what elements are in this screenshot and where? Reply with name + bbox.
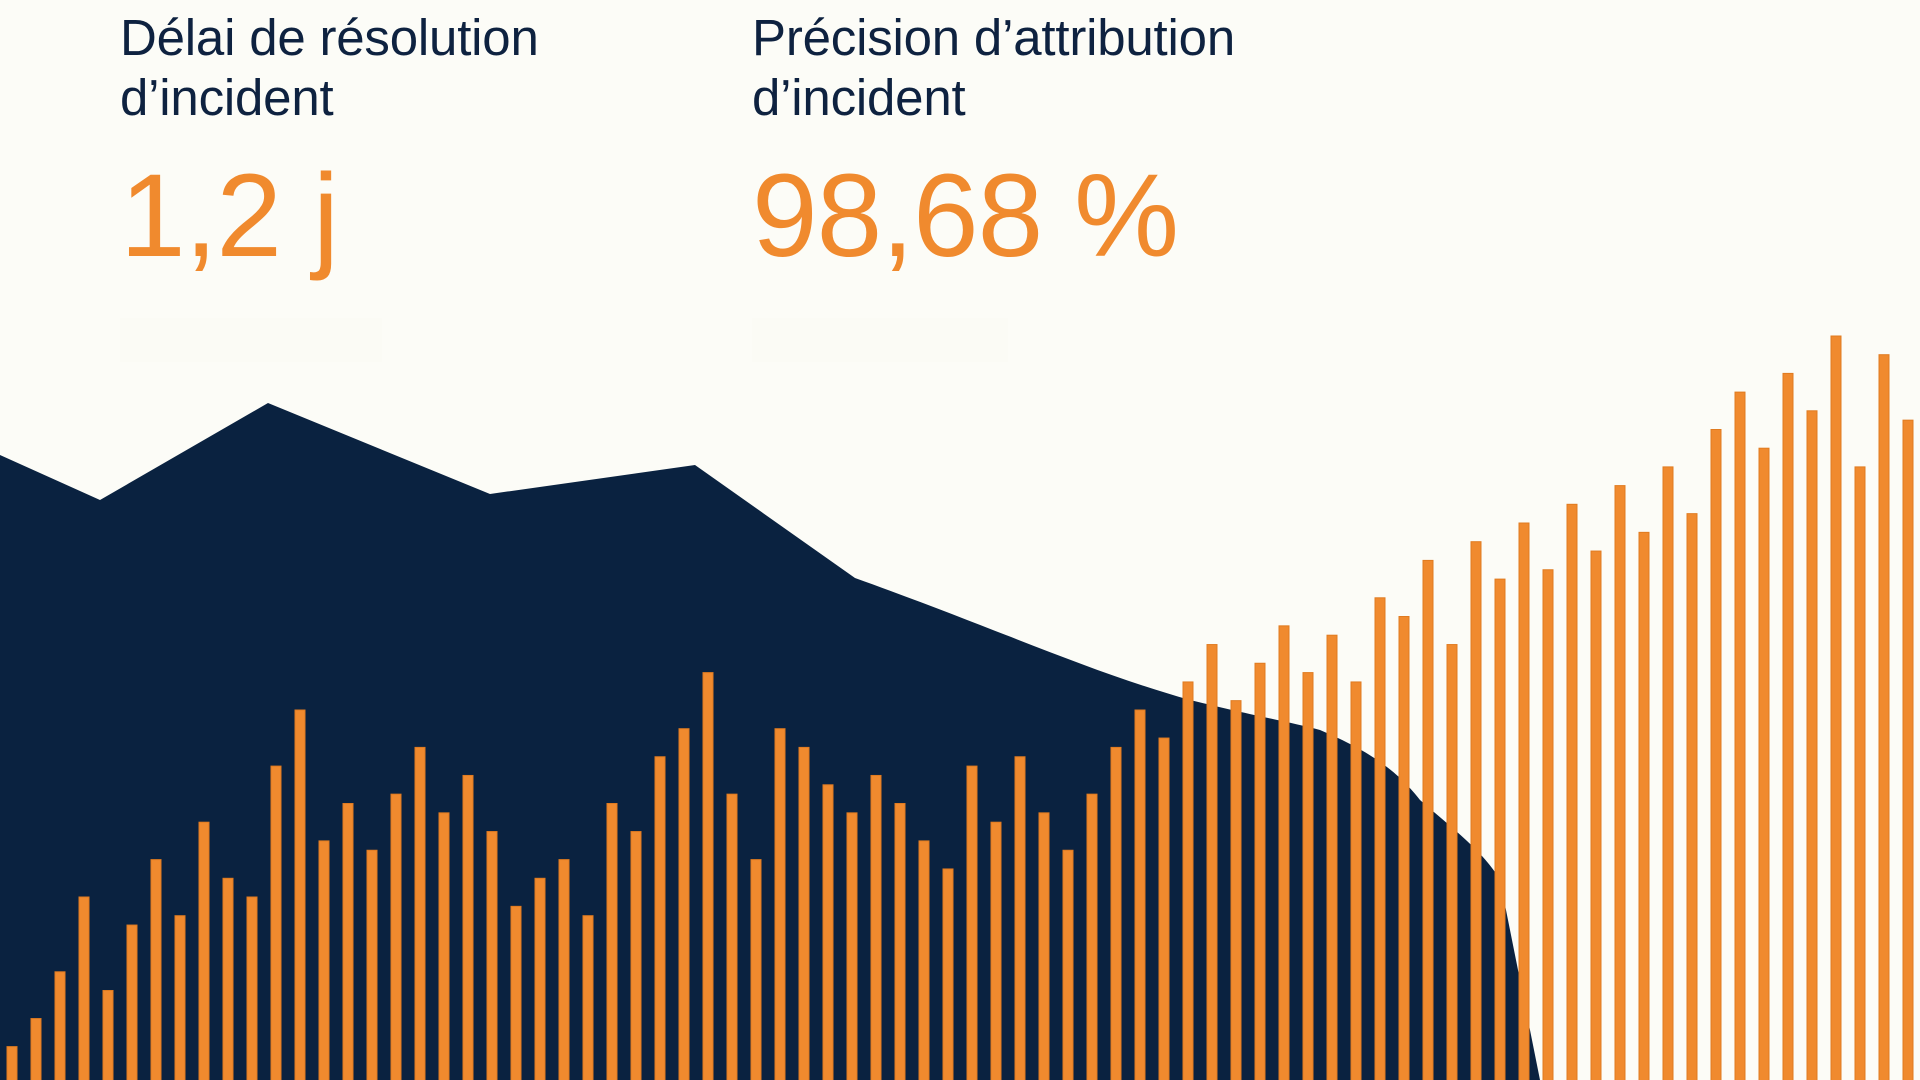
kpi-caption-mask-resolution-delay xyxy=(120,318,382,362)
kpi-label-attribution-accuracy: Précision d’attribution d’incident xyxy=(752,8,1235,127)
dashboard-canvas: Délai de résolution d’incident 1,2 j Pré… xyxy=(0,0,1920,1080)
kpi-row: Délai de résolution d’incident 1,2 j Pré… xyxy=(0,0,1920,1080)
kpi-card-resolution-delay: Délai de résolution d’incident 1,2 j xyxy=(120,8,539,275)
kpi-value-resolution-delay: 1,2 j xyxy=(120,127,539,275)
kpi-caption-mask-attribution-accuracy xyxy=(752,318,1008,362)
kpi-value-attribution-accuracy: 98,68 % xyxy=(752,127,1235,275)
kpi-label-resolution-delay: Délai de résolution d’incident xyxy=(120,8,539,127)
kpi-card-attribution-accuracy: Précision d’attribution d’incident 98,68… xyxy=(752,8,1235,275)
